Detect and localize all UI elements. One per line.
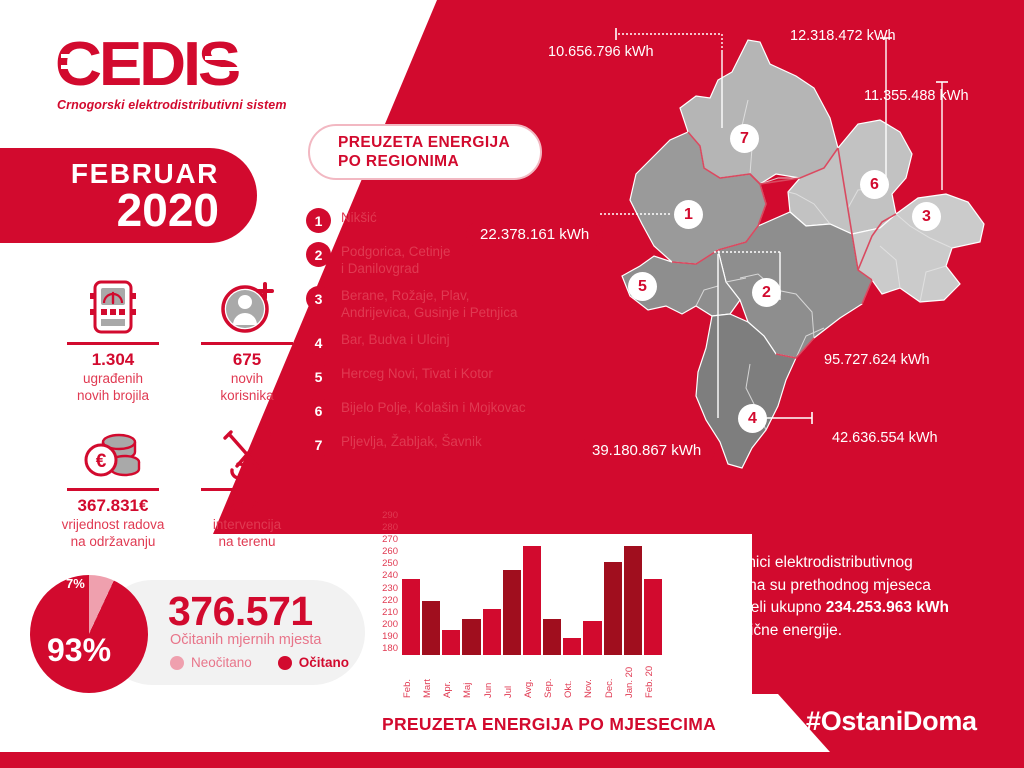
kpi-value: 367.831€ — [46, 496, 180, 516]
map-callout-6-value: 12.318.472 kWh — [790, 28, 896, 44]
new-user-icon — [180, 278, 314, 336]
logo-stripe-2 — [61, 65, 87, 69]
chart-x-label: Jul — [503, 658, 521, 698]
kpi-maintenance-value: € 367.831€ vrijednost radova na održavan… — [46, 424, 180, 558]
legend-label: Bar, Budva i Ulcinj — [341, 330, 450, 349]
kpi-divider — [201, 342, 293, 345]
map-badge-5[interactable]: 5 — [628, 272, 657, 301]
kpi-label-line2: novih brojila — [46, 387, 180, 404]
donut-legend: Neočitano Očitano — [170, 655, 349, 670]
region-panel-title: PREUZETA ENERGIJA PO REGIONIMA — [308, 124, 542, 180]
kpi-divider — [67, 342, 159, 345]
chart-bar[interactable] — [624, 546, 642, 655]
chart-bar[interactable] — [583, 621, 601, 655]
summary-line4: električne energije. — [712, 622, 842, 639]
legend-label: Nikšić — [341, 208, 377, 227]
map-callout-3-value: 11.355.488 kWh — [864, 88, 969, 104]
chart-y-tick: 180 — [382, 644, 398, 654]
legend-badge: 7 — [306, 432, 331, 457]
chart-bar[interactable] — [483, 609, 501, 655]
chart-bar-column[interactable] — [483, 510, 501, 655]
svg-text:€: € — [96, 451, 107, 472]
summary-text: Korisnici elektrodistributivnog sistema … — [712, 552, 1012, 642]
kpi-label-line2: na održavanju — [46, 533, 180, 550]
logo-stripe-3 — [205, 56, 263, 60]
summary-line2: sistema su prethodnog mjeseca — [712, 577, 931, 594]
chart-y-tick: 250 — [382, 559, 398, 569]
chart-bar-column[interactable] — [462, 510, 480, 655]
hashtag-ostanidoma: #OstaniDoma — [806, 706, 977, 737]
kpi-value: 675 — [180, 350, 314, 370]
chart-bar-column[interactable] — [583, 510, 601, 655]
kpi-label-line1: ugrađenih — [46, 370, 180, 387]
donut-legend-read: Očitano — [278, 655, 349, 670]
map-badge-2[interactable]: 2 — [752, 278, 781, 307]
chart-bar-column[interactable] — [604, 510, 622, 655]
map-callout-5-value: 39.180.867 kWh — [578, 438, 715, 463]
chart-bar[interactable] — [442, 630, 460, 655]
map-badge-3[interactable]: 3 — [912, 202, 941, 231]
kpi-label-line1: novih — [180, 370, 314, 387]
chart-bar[interactable] — [422, 601, 440, 655]
kpi-field-interventions: 2.171 intervencija na terenu — [180, 424, 314, 558]
legend-dot-unread-icon — [170, 656, 184, 670]
chart-bar[interactable] — [604, 562, 622, 655]
legend-badge: 5 — [306, 364, 331, 389]
readings-subtitle: Očitanih mjernih mjesta — [170, 632, 322, 648]
legend-badge: 3 — [306, 286, 331, 311]
chart-x-label: Mart — [422, 658, 440, 698]
map-badge-7[interactable]: 7 — [730, 124, 759, 153]
kpi-label-line1: vrijednost radova — [46, 516, 180, 533]
summary-total-kwh: 234.253.963 kWh — [826, 599, 949, 616]
chart-x-label: Apr. — [442, 658, 460, 698]
map-badge-1[interactable]: 1 — [674, 200, 703, 229]
chart-bar-column[interactable] — [624, 510, 642, 655]
chart-x-label: Maj — [462, 658, 480, 698]
chart-x-label: Feb. 20 — [644, 658, 662, 698]
chart-bar[interactable] — [543, 619, 561, 655]
legend-badge: 2 — [306, 242, 331, 267]
chart-bar[interactable] — [503, 570, 521, 655]
legend-label-line1: Herceg Novi, Tivat i Kotor — [341, 366, 493, 383]
chart-y-tick: 290 — [382, 511, 398, 521]
chart-bar-column[interactable] — [442, 510, 460, 655]
map-callout-7-value: 10.656.796 kWh — [548, 44, 654, 60]
donut-unread-pct: 7% — [66, 576, 85, 591]
region-title-line2: PO REGIONIMA — [338, 152, 540, 171]
map-callout-1-value: 22.378.161 kWh — [466, 222, 603, 247]
readings-total: 376.571 — [168, 588, 313, 635]
logo-wordmark: CEDIS — [55, 34, 286, 96]
month-banner: FEBRUAR 2020 — [0, 148, 257, 243]
euro-coins-icon: € — [46, 424, 180, 482]
map-badge-6[interactable]: 6 — [860, 170, 889, 199]
legend-item-5[interactable]: 5 Herceg Novi, Tivat i Kotor — [306, 364, 556, 389]
legend-label: Pljevlja, Žabljak, Šavnik — [341, 432, 482, 451]
legend-badge: 6 — [306, 398, 331, 423]
chart-bars — [402, 510, 662, 655]
chart-y-tick: 270 — [382, 535, 398, 545]
chart-bar-column[interactable] — [543, 510, 561, 655]
legend-label-line2: Andrijevica, Gusinje i Petnjica — [341, 305, 517, 322]
map-badge-4[interactable]: 4 — [738, 404, 767, 433]
kpi-divider — [67, 488, 159, 491]
donut-legend-unread: Neočitano — [170, 655, 252, 670]
chart-y-tick: 240 — [382, 571, 398, 581]
chart-x-label: Sep. — [543, 658, 561, 698]
map-callout-4-value: 42.636.554 kWh — [832, 430, 938, 446]
summary-line1: Korisnici elektrodistributivnog — [712, 554, 913, 571]
electricity-meter-icon — [46, 278, 180, 336]
kpi-new-users: 675 novih korisnika — [180, 278, 314, 412]
kpi-label-line2: na terenu — [180, 533, 314, 550]
chart-y-tick: 190 — [382, 632, 398, 642]
monthly-energy-bar-chart: 290280270260250240230220210200190180 Feb… — [372, 510, 672, 690]
chart-bar-column[interactable] — [503, 510, 521, 655]
chart-bar[interactable] — [563, 638, 581, 655]
chart-bar[interactable] — [402, 579, 420, 655]
chart-x-axis-labels: Feb.MartApr.MajJunJulAvg.Sep.Okt.Nov.Dec… — [402, 658, 662, 698]
chart-bar-column[interactable] — [644, 510, 662, 655]
legend-read-label: Očitano — [299, 655, 349, 670]
map-callout-2-value: 95.727.624 kWh — [824, 352, 930, 368]
chart-y-tick: 220 — [382, 596, 398, 606]
legend-label: Podgorica, Cetinje i Danilovgrad — [341, 242, 450, 277]
chart-y-tick: 230 — [382, 584, 398, 594]
kpi-label-line2: korisnika — [180, 387, 314, 404]
legend-label-line1: Bar, Budva i Ulcinj — [341, 332, 450, 349]
legend-item-6[interactable]: 6 Bijelo Polje, Kolašin i Mojkovac — [306, 398, 556, 423]
summary-line3-prefix: preuzeli ukupno — [712, 599, 826, 616]
legend-label: Berane, Rožaje, Plav, Andrijevica, Gusin… — [341, 286, 517, 321]
chart-x-label: Jan. 20 — [624, 658, 642, 698]
kpi-value: 1.304 — [46, 350, 180, 370]
tools-icon — [180, 424, 314, 482]
logo-stripe-1 — [61, 54, 87, 58]
legend-label-line1: Podgorica, Cetinje — [341, 244, 450, 261]
region-title-line1: PREUZETA ENERGIJA — [338, 133, 540, 152]
legend-badge: 4 — [306, 330, 331, 355]
kpi-divider — [201, 488, 293, 491]
chart-bar[interactable] — [523, 546, 541, 655]
cedis-logo: CEDIS Crnogorski elektrodistributivni si… — [55, 34, 275, 114]
donut-read-pct: 93% — [47, 632, 111, 669]
chart-x-label: Feb. — [402, 658, 420, 698]
chart-x-label: Okt. — [563, 658, 581, 698]
legend-badge: 1 — [306, 208, 331, 233]
logo-tagline: Crnogorski elektrodistributivni sistem — [57, 98, 287, 112]
chart-bar-column[interactable] — [563, 510, 581, 655]
logo-stripe-4 — [205, 67, 263, 71]
chart-bar-column[interactable] — [422, 510, 440, 655]
legend-label-line1: Bijelo Polje, Kolašin i Mojkovac — [341, 400, 526, 417]
legend-label-line1: Berane, Rožaje, Plav, — [341, 288, 517, 305]
legend-label: Herceg Novi, Tivat i Kotor — [341, 364, 493, 383]
legend-label-line1: Pljevlja, Žabljak, Šavnik — [341, 434, 482, 451]
chart-x-label: Avg. — [523, 658, 541, 698]
chart-y-tick: 210 — [382, 608, 398, 618]
chart-x-label: Dec. — [604, 658, 622, 698]
legend-label-line2: i Danilovgrad — [341, 261, 450, 278]
legend-unread-label: Neočitano — [191, 655, 252, 670]
legend-item-2[interactable]: 2 Podgorica, Cetinje i Danilovgrad — [306, 242, 556, 277]
chart-bar[interactable] — [462, 619, 480, 655]
banner-year: 2020 — [117, 187, 219, 233]
kpi-installed-meters: 1.304 ugrađenih novih brojila — [46, 278, 180, 412]
chart-bar-column[interactable] — [523, 510, 541, 655]
legend-dot-read-icon — [278, 656, 292, 670]
legend-item-3[interactable]: 3 Berane, Rožaje, Plav, Andrijevica, Gus… — [306, 286, 556, 321]
chart-y-axis: 290280270260250240230220210200190180 — [372, 510, 398, 650]
legend-item-7[interactable]: 7 Pljevlja, Žabljak, Šavnik — [306, 432, 556, 457]
chart-title: PREUZETA ENERGIJA PO MJESECIMA — [382, 714, 716, 735]
chart-bar-column[interactable] — [402, 510, 420, 655]
chart-y-tick: 200 — [382, 620, 398, 630]
chart-y-tick: 260 — [382, 547, 398, 557]
kpi-label-line1: intervencija — [180, 516, 314, 533]
chart-bar[interactable] — [644, 579, 662, 655]
chart-x-label: Jun — [483, 658, 501, 698]
legend-label: Bijelo Polje, Kolašin i Mojkovac — [341, 398, 526, 417]
chart-y-tick: 280 — [382, 523, 398, 533]
kpi-grid: 1.304 ugrađenih novih brojila 675 novih — [46, 278, 314, 558]
kpi-value: 2.171 — [180, 496, 314, 516]
legend-item-4[interactable]: 4 Bar, Budva i Ulcinj — [306, 330, 556, 355]
legend-label-line1: Nikšić — [341, 210, 377, 227]
chart-x-label: Nov. — [583, 658, 601, 698]
